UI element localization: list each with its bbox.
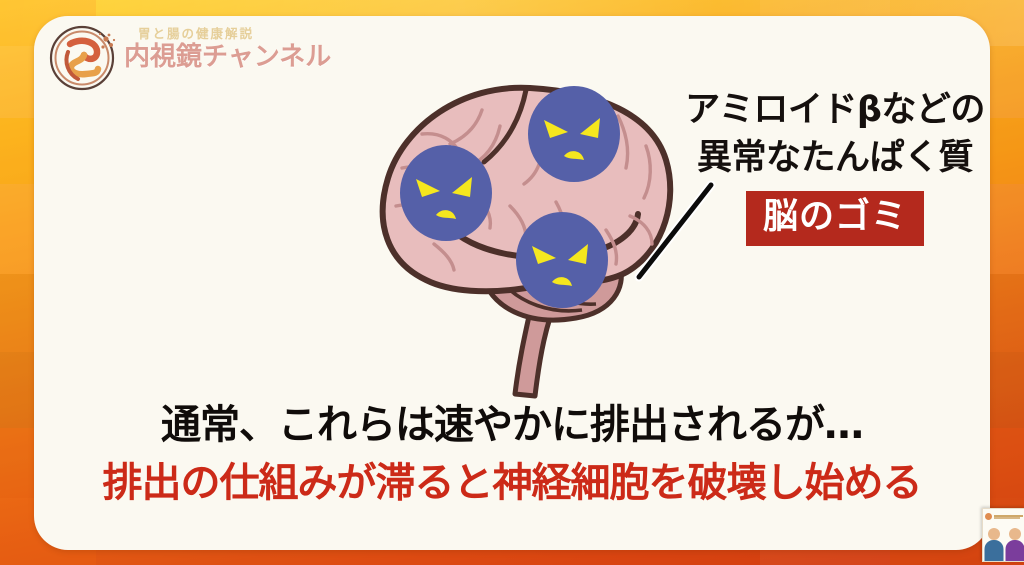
presenter-1	[983, 523, 1004, 561]
angry-amyloid-blob-lower-right	[516, 212, 608, 308]
brain-garbage-badge: 脳のゴミ	[746, 191, 924, 246]
angry-amyloid-blob-left	[400, 145, 492, 241]
logo-tagline: 胃と腸の健康解説	[138, 26, 331, 41]
message-normal: 通常、これらは速やかに排出されるが…	[34, 398, 990, 452]
presenter-1-face	[988, 528, 1000, 540]
presenter-1-body	[984, 540, 1003, 561]
channel-logo[interactable]: 胃と腸の健康解説 内視鏡チャンネル	[48, 20, 348, 94]
amyloid-caption: アミロイドβなどの 異常なたんぱく質 脳のゴミ	[670, 86, 990, 246]
thumbnail-header	[983, 509, 1024, 523]
thumbnail-photo	[983, 523, 1024, 561]
presenter-2-face	[1009, 528, 1021, 540]
presenter-2-body	[1005, 540, 1024, 561]
logo-channel-name: 内視鏡チャンネル	[124, 42, 331, 72]
angry-amyloid-blob-upper-right	[528, 86, 620, 182]
slide-root: 胃と腸の健康解説 内視鏡チャンネル	[0, 0, 1024, 565]
presenters-thumbnail[interactable]	[982, 508, 1024, 562]
logo-text-block: 胃と腸の健康解説 内視鏡チャンネル	[124, 22, 331, 72]
bottom-message-block: 通常、これらは速やかに排出されるが… 排出の仕組みが滞ると神経細胞を破壊し始める	[34, 398, 990, 510]
stomach-intestine-logo-icon	[48, 22, 120, 94]
message-warning: 排出の仕組みが滞ると神経細胞を破壊し始める	[34, 456, 990, 510]
presenter-2	[1004, 523, 1024, 561]
caption-line-2: 異常なたんぱく質	[670, 134, 990, 182]
content-card: 胃と腸の健康解説 内視鏡チャンネル	[34, 16, 990, 550]
thumbnail-logo-icon	[985, 513, 992, 520]
thumbnail-subtitle-bar	[994, 517, 1020, 519]
caption-line-1: アミロイドβなどの	[670, 86, 990, 134]
